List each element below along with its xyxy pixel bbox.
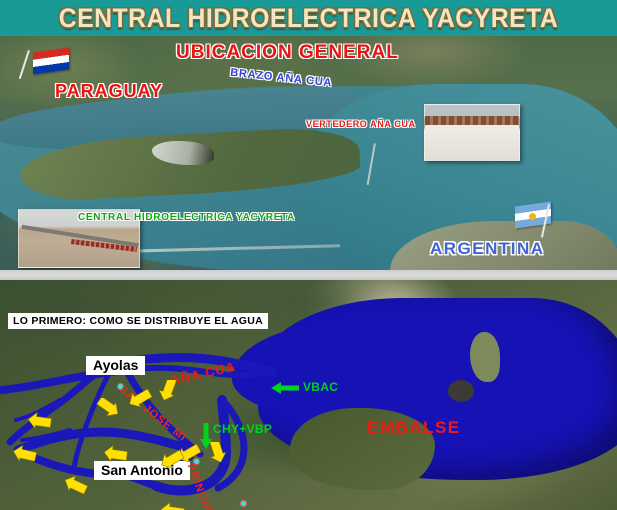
argentina-sun-emblem bbox=[529, 213, 536, 220]
flow-arrow-icon bbox=[95, 398, 121, 418]
flow-arrow-icon bbox=[204, 442, 230, 462]
label-chy-vbp: CHY+VBP bbox=[213, 422, 272, 436]
ana-cua-dam-structure bbox=[367, 143, 409, 190]
label-central-hidroelectrica: CENTRAL HIDROELECTRICA YACYRETA bbox=[78, 212, 295, 223]
flow-arrow-icon bbox=[12, 445, 38, 465]
top-map-panel: UBICACION GENERAL PARAGUAY BRAZO AÑA CUA… bbox=[0, 36, 617, 270]
reservoir-label-embalse: EMBALSE bbox=[367, 418, 461, 438]
city-label-ayolas: Ayolas bbox=[86, 356, 145, 375]
flow-arrow-icon bbox=[103, 445, 129, 465]
label-paraguay: PARAGUAY bbox=[55, 81, 163, 102]
flow-arrow-icon bbox=[160, 502, 186, 510]
bottom-map-heading: LO PRIMERO: COMO SE DISTRIBUYE EL AGUA bbox=[8, 313, 268, 329]
flow-arrow-icon bbox=[27, 412, 53, 432]
ana-cua-spillway-photo bbox=[424, 104, 520, 161]
flow-arrow-icon bbox=[159, 450, 185, 470]
bottom-map-panel: LO PRIMERO: COMO SE DISTRIBUYE EL AGUA A… bbox=[0, 280, 617, 510]
vbac-arrow-icon bbox=[270, 380, 300, 396]
page-title: CENTRAL HIDROELECTRICA YACYRETA bbox=[59, 3, 559, 34]
top-map-heading: UBICACION GENERAL bbox=[176, 42, 399, 64]
flow-arrow-icon bbox=[127, 389, 153, 409]
label-vbac: VBAC bbox=[303, 380, 338, 394]
flow-arrow-icon bbox=[63, 476, 89, 496]
title-bar: CENTRAL HIDROELECTRICA YACYRETA bbox=[0, 0, 617, 36]
label-argentina: ARGENTINA bbox=[430, 239, 545, 259]
city-marker-ituzaingo bbox=[240, 500, 247, 507]
map-separator bbox=[0, 270, 617, 280]
label-vertedero-ana-cua: VERTEDERO AÑA CUA bbox=[306, 119, 416, 129]
flow-arrow-icon bbox=[155, 380, 181, 400]
